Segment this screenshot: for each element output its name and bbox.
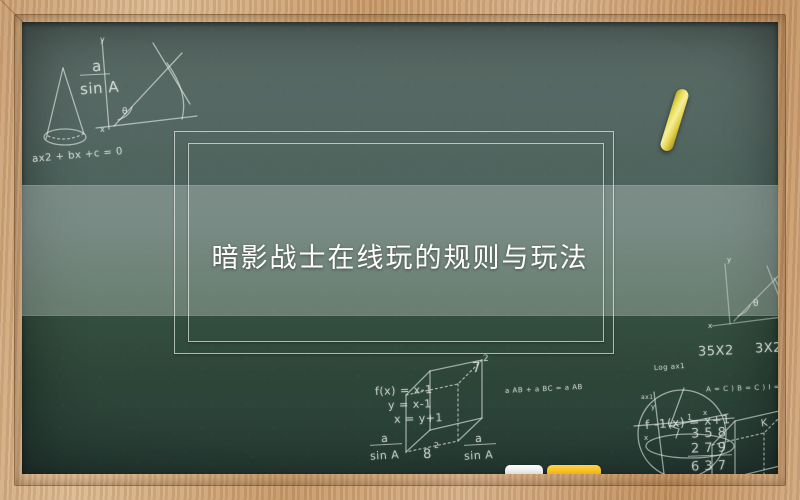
chalkboard-surface: asin Aax2 + bx +c = 0yxθf(x) = x-1y = x-… [22,22,778,474]
white-chalk-tray-piece[interactable] [505,465,543,474]
yellow-chalk-tray-piece[interactable] [547,465,601,474]
chalkboard-banner: asin Aax2 + bx +c = 0yxθf(x) = x-1y = x-… [0,0,800,500]
page-title: 暗影战士在线玩的规则与玩法 [22,236,778,275]
